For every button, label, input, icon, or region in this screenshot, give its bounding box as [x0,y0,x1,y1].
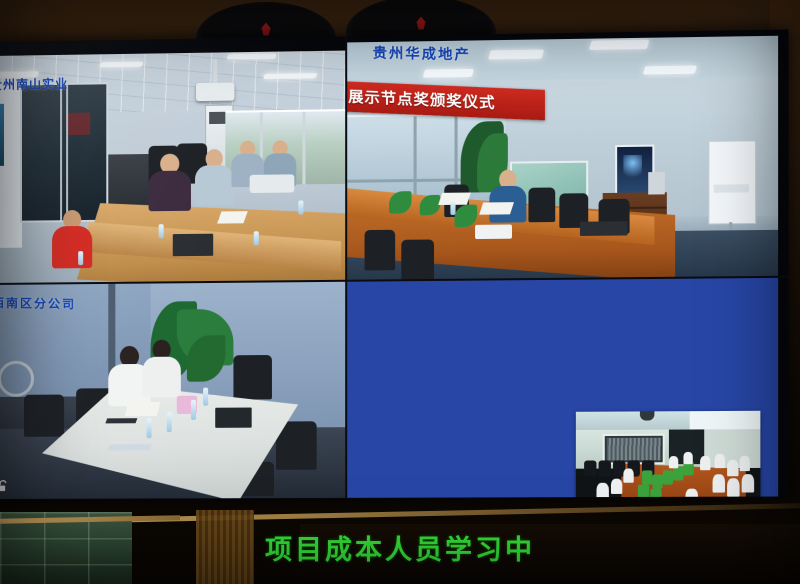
pip-chair [584,460,596,476]
tl-person-body [195,165,233,206]
bl-cable [107,444,152,450]
tl-projector-arm [213,59,217,85]
pip-artwork-image [607,438,661,461]
bl-notebook [125,402,161,416]
bl-chair [233,355,272,400]
tl-water-bottle [78,251,83,265]
tl-overlay-label: 贵州南山实业 [0,77,68,92]
tl-laptop [173,234,213,257]
pip-attendee [713,474,725,492]
pip-attendee [596,483,608,498]
pip-attendee [727,460,738,476]
unlock-icon[interactable] [0,479,10,493]
bl-chair [24,395,64,437]
camera-feed-bottom-left[interactable]: 西南区分公司 [0,282,345,499]
pip-attendee [740,456,750,471]
tl-person-body [52,226,92,268]
tl-water-bottle [298,200,303,214]
flame-logo-icon [417,17,426,30]
tl-glass-door [20,82,108,222]
tr-projector-on-table [475,224,512,239]
pip-green-attendee [673,466,683,480]
tr-chair [528,187,555,222]
tl-window-bar [302,112,305,185]
camera-feed-top-left[interactable]: 贵州南山实业 [0,51,345,284]
pip-attendee [683,452,692,464]
flame-logo-icon [262,23,271,36]
pip-green-attendee [650,489,661,498]
video-wall[interactable]: 贵州南山实业 展示节点奖颁奖仪式 [0,29,789,500]
tl-overlay-label-wrap: 贵州南山实业 [0,73,68,88]
pip-attendee [669,456,678,468]
pip-large-conference-room[interactable] [576,411,761,498]
pip-attendee [686,489,698,498]
tr-ceiling-light [423,69,475,78]
pip-green-attendee [663,470,673,484]
panel-divider-vertical [345,36,347,498]
bl-water-bottle [191,400,196,420]
tl-wall-poster [0,104,4,166]
pip-green-attendee [642,470,652,484]
bl-person-body [143,357,181,397]
bl-water-bottle [167,412,172,432]
pip-attendee [611,479,622,494]
tr-chair [365,230,396,271]
tl-door-mullion [66,85,68,220]
tr-overlay-label: 贵州华成地产 [373,42,471,64]
caption-text: 项目成本人员学习中 [0,528,800,567]
pip-green-attendee [638,485,649,498]
camera-feed-bottom-right[interactable] [346,278,778,498]
tl-projector [196,82,234,101]
tr-desk-equipment [648,172,665,195]
tl-water-bottle [159,224,164,238]
pip-attendee [742,474,754,492]
bl-water-bottle [147,418,152,438]
tr-picture-art [623,155,642,182]
bl-overlay-label: 西南区分公司 [0,294,76,313]
tl-door-mullion [60,85,62,220]
bl-water-bottle [203,388,208,406]
bl-person-right [143,340,181,395]
tl-paper [217,211,248,223]
tr-laptop [580,221,628,236]
tl-person-body [149,171,191,212]
tl-ceiling-light [226,54,277,60]
tr-banner-text: 展示节点奖颁奖仪式 [348,86,495,114]
tl-person-light-shirt [195,149,233,206]
camera-feed-top-right[interactable]: 展示节点奖颁奖仪式 [346,36,778,281]
tl-person-red-shirt [52,210,92,267]
tr-ceiling-light [643,66,697,75]
tr-chair [401,239,434,280]
pip-attendee [700,456,710,470]
tr-paper [479,202,514,215]
tr-ceiling-light [488,50,544,60]
tl-door-redsign [68,113,90,135]
tl-person-dark-shirt [149,153,191,210]
bl-pen [105,418,137,423]
tl-equipment [250,174,295,193]
screenshot-stage: 贵州南山实业 展示节点奖颁奖仪式 [0,0,800,584]
tr-whiteboard-tray [714,184,749,193]
pip-green-attendee [652,474,662,488]
tl-water-bottle [254,231,259,245]
pip-attendee [727,478,739,496]
pip-attendee [623,468,633,482]
tl-ceiling-light [99,62,143,68]
tr-ceiling-light [589,40,650,50]
tr-whiteboard [708,140,756,224]
tl-ceiling-light [263,73,318,79]
tr-water-bottle [450,201,455,215]
pip-chair [599,460,611,476]
bl-folder [215,408,251,428]
pip-attendee [715,454,725,468]
